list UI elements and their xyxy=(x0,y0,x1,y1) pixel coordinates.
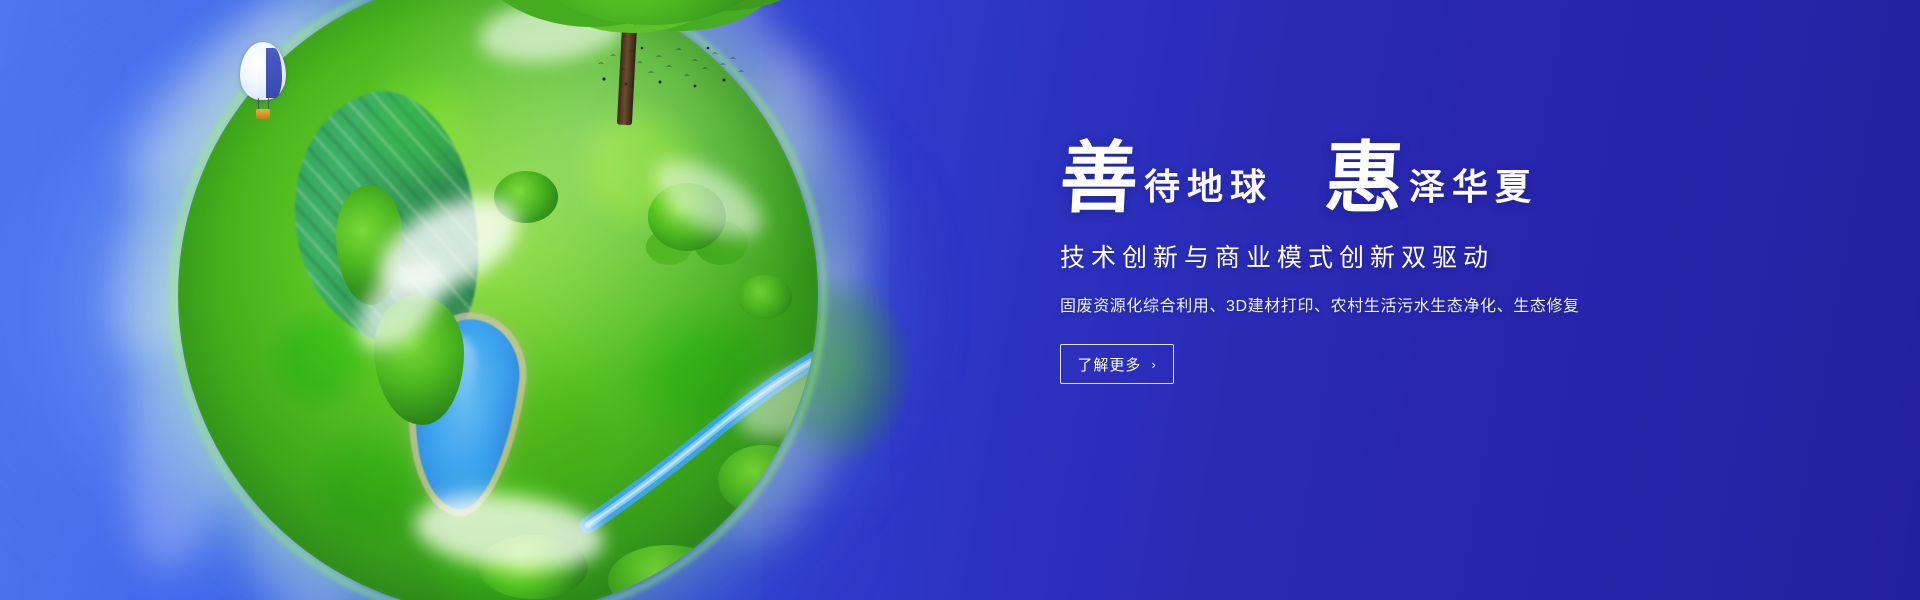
shrub-icon xyxy=(608,545,728,600)
headline-char-primary-1: 善 xyxy=(1058,140,1140,218)
shrub-icon xyxy=(718,445,808,515)
cloud-streak-icon xyxy=(732,36,897,304)
hero-copy: 善 待地球 惠 泽华夏 技术创新与商业模式创新双驱动 固废资源化综合利用、3D建… xyxy=(1060,140,1820,384)
planet-cloud-icon xyxy=(364,178,533,314)
cloud-streak-icon xyxy=(73,0,366,383)
cloud-streak-icon xyxy=(589,0,852,210)
headline-text-1: 待地球 xyxy=(1144,169,1273,205)
headline-group-2: 惠 泽华夏 xyxy=(1325,140,1538,218)
shrub-icon xyxy=(336,185,402,305)
cloud-streak-icon xyxy=(288,373,572,600)
page-title: 善 待地球 惠 泽华夏 xyxy=(1060,140,1820,218)
planet-cloud-icon xyxy=(341,245,461,366)
river-icon xyxy=(578,295,818,535)
shrub-icon xyxy=(374,295,464,425)
balloon-stripe xyxy=(266,48,282,98)
chevron-right-icon: › xyxy=(1151,358,1156,371)
headline-group-1: 善 待地球 xyxy=(1060,140,1273,218)
hero-subtitle: 技术创新与商业模式创新双驱动 xyxy=(1060,238,1820,274)
cloud-streak-icon xyxy=(687,239,894,561)
sky-glow xyxy=(0,0,1000,600)
planet-cloud-icon xyxy=(411,485,608,578)
planet-cloud-icon xyxy=(642,145,774,253)
shrub-icon xyxy=(478,535,588,599)
lake-highlight xyxy=(423,331,483,409)
tree-canopy-texture xyxy=(502,0,802,25)
shrub-icon xyxy=(494,171,558,223)
bird-flock-icon xyxy=(596,46,746,94)
rim-tree-icon xyxy=(390,465,720,600)
learn-more-button[interactable]: 了解更多 › xyxy=(1060,344,1174,384)
cloud-streak-icon xyxy=(196,307,385,600)
rim-tree-icon xyxy=(210,275,380,505)
balloon-basket xyxy=(256,109,270,119)
shrub-icon xyxy=(738,275,792,319)
learn-more-label: 了解更多 xyxy=(1077,354,1141,375)
hot-air-balloon-icon xyxy=(240,42,286,128)
sky-inner-glow xyxy=(60,0,880,600)
hero-banner: 善 待地球 惠 泽华夏 技术创新与商业模式创新双驱动 固废资源化综合利用、3D建… xyxy=(0,0,1920,600)
planet-cloud-icon xyxy=(728,348,818,453)
tree-canopy-icon xyxy=(502,0,802,25)
lake-icon xyxy=(401,313,526,515)
cloud-streak-icon xyxy=(102,137,309,583)
hero-description: 固废资源化综合利用、3D建材打印、农村生活污水生态净化、生态修复 xyxy=(1060,292,1820,316)
rim-tree-icon xyxy=(760,245,960,515)
mountain-ridge-icon xyxy=(267,75,505,371)
shrub-icon xyxy=(648,183,726,251)
headline-char-primary-2: 惠 xyxy=(1323,140,1405,218)
headline-text-2: 泽华夏 xyxy=(1409,169,1538,205)
